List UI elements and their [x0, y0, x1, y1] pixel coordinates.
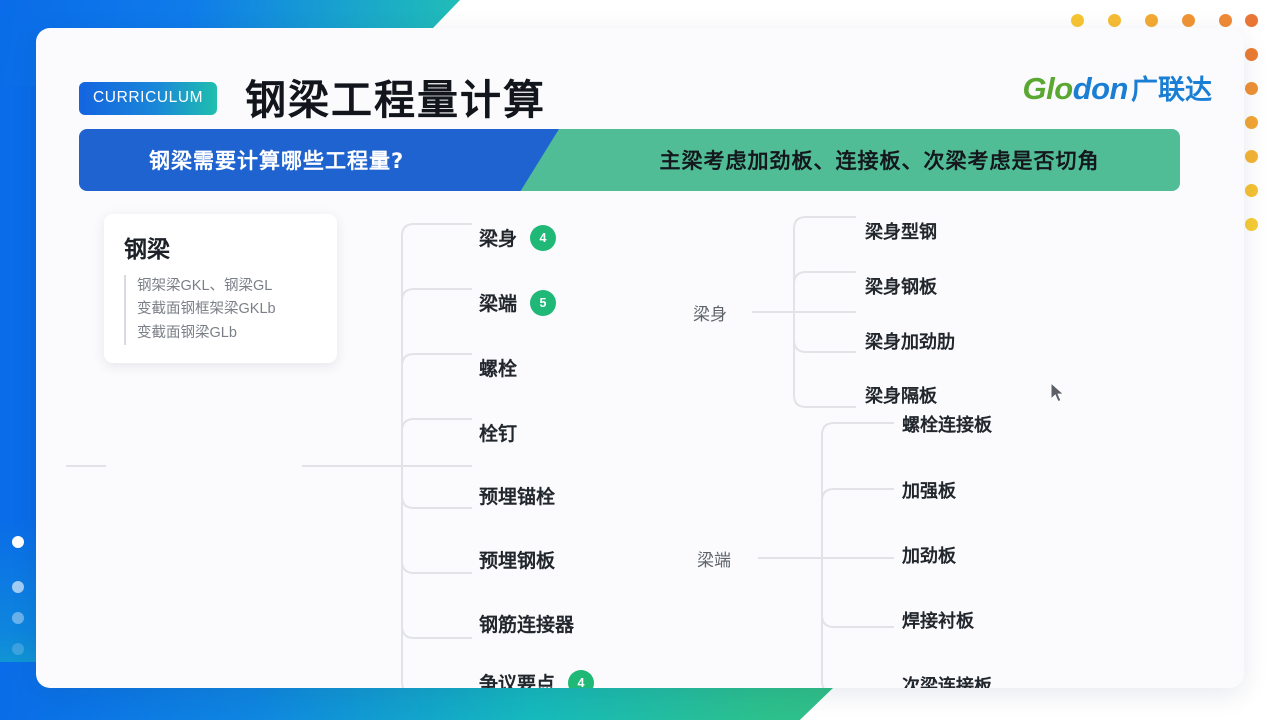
banner-question-text: 钢梁需要计算哪些工程量?	[149, 129, 404, 191]
node-label: 梁身钢板	[865, 273, 937, 299]
node-level1-0[interactable]: 梁身 4	[479, 224, 556, 251]
node-label: 梁端	[479, 289, 517, 316]
node-level1-4[interactable]: 预埋锚栓	[479, 482, 555, 509]
mouse-cursor	[1050, 382, 1068, 404]
slide-header: CURRICULUM 钢梁工程量计算 Glodon广联达	[36, 28, 1244, 132]
node-level1-6[interactable]: 钢筋连接器	[479, 610, 574, 637]
node-level1-1[interactable]: 梁端 5	[479, 289, 556, 316]
node-label: 梁身	[479, 224, 517, 251]
slide-card: CURRICULUM 钢梁工程量计算 Glodon广联达 钢梁需要计算哪些工程量…	[36, 28, 1244, 688]
node-branch-b-child-4[interactable]: 次梁连接板	[902, 672, 992, 688]
node-label: 梁身加劲肋	[865, 328, 955, 354]
root-subtext-line: 钢架梁GKL、钢梁GL	[137, 275, 319, 298]
node-label: 梁身	[693, 300, 727, 325]
node-level1-7[interactable]: 争议要点 4	[479, 669, 594, 688]
node-level1-2[interactable]: 螺栓	[479, 354, 517, 381]
node-badge: 5	[530, 290, 556, 316]
node-label: 梁端	[697, 546, 731, 571]
node-label: 争议要点	[479, 669, 555, 688]
root-title: 钢梁	[124, 230, 319, 264]
slide-root: CURRICULUM 钢梁工程量计算 Glodon广联达 钢梁需要计算哪些工程量…	[0, 0, 1280, 720]
node-branch-b-child-0[interactable]: 螺栓连接板	[902, 411, 992, 437]
node-branch-a-child-2[interactable]: 梁身加劲肋	[865, 328, 955, 354]
curriculum-badge: CURRICULUM	[79, 82, 217, 115]
root-subtext: 钢架梁GKL、钢梁GL 变截面钢框架梁GKLb 变截面钢梁GLb	[124, 275, 319, 345]
node-branch-b-child-3[interactable]: 焊接衬板	[902, 607, 974, 633]
node-branch-b-parent[interactable]: 梁端	[697, 546, 731, 571]
logo-part-2: don	[1073, 71, 1128, 106]
section-banner: 钢梁需要计算哪些工程量? 主梁考虑加劲板、连接板、次梁考虑是否切角	[79, 129, 1180, 191]
node-branch-a-child-0[interactable]: 梁身型钢	[865, 218, 937, 244]
node-branch-a-child-1[interactable]: 梁身钢板	[865, 273, 937, 299]
node-label: 栓钉	[479, 419, 517, 446]
node-label: 螺栓	[479, 354, 517, 381]
node-label: 梁身型钢	[865, 218, 937, 244]
page-title: 钢梁工程量计算	[245, 66, 546, 126]
node-label: 钢筋连接器	[479, 610, 574, 637]
logo-chinese: 广联达	[1131, 75, 1212, 105]
node-label: 螺栓连接板	[902, 411, 992, 437]
banner-answer-text: 主梁考虑加劲板、连接板、次梁考虑是否切角	[579, 129, 1180, 191]
node-label: 预埋锚栓	[479, 482, 555, 509]
node-badge: 4	[530, 225, 556, 251]
node-badge: 4	[568, 670, 594, 689]
mindmap-root-node[interactable]: 钢梁 钢架梁GKL、钢梁GL 变截面钢框架梁GKLb 变截面钢梁GLb	[104, 214, 337, 363]
decor-dots-right-col	[1245, 14, 1258, 252]
node-level1-3[interactable]: 栓钉	[479, 419, 517, 446]
node-label: 加劲板	[902, 542, 956, 568]
node-branch-b-child-1[interactable]: 加强板	[902, 477, 956, 503]
node-label: 预埋钢板	[479, 546, 555, 573]
node-label: 焊接衬板	[902, 607, 974, 633]
node-branch-a-child-3[interactable]: 梁身隔板	[865, 382, 937, 408]
node-label: 梁身隔板	[865, 382, 937, 408]
node-label: 加强板	[902, 477, 956, 503]
node-label: 次梁连接板	[902, 672, 992, 688]
node-branch-a-parent[interactable]: 梁身	[693, 300, 727, 325]
logo-part-1: Glo	[1023, 71, 1073, 106]
root-subtext-line: 变截面钢梁GLb	[137, 322, 319, 345]
node-branch-b-child-2[interactable]: 加劲板	[902, 542, 956, 568]
glodon-logo: Glodon广联达	[1023, 68, 1212, 107]
root-subtext-line: 变截面钢框架梁GKLb	[137, 298, 319, 321]
decor-dots-top-row	[1071, 14, 1232, 27]
node-level1-5[interactable]: 预埋钢板	[479, 546, 555, 573]
